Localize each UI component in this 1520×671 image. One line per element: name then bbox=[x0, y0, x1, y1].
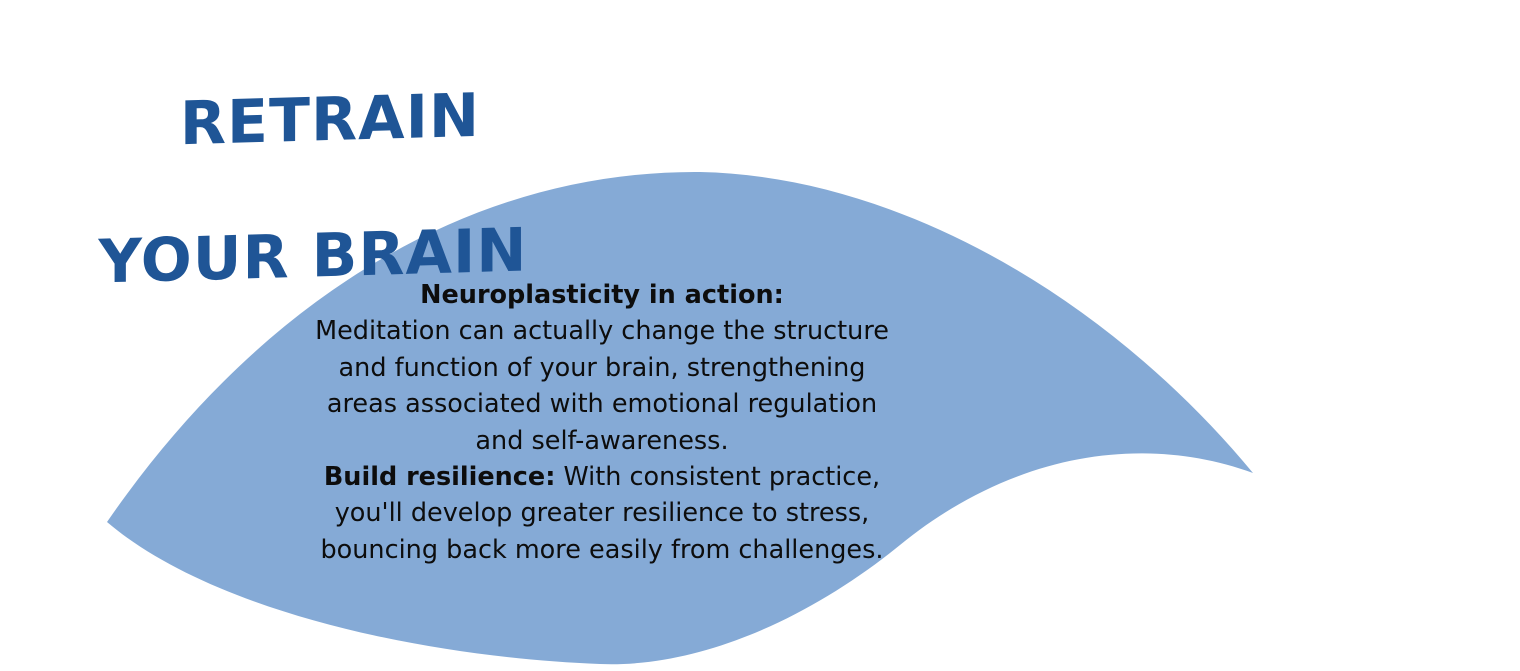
paragraph-lead-build-resilience: Build resilience: bbox=[324, 462, 556, 492]
headline-line-1: RETRAIN bbox=[120, 80, 540, 160]
poster-canvas: RETRAIN YOUR BRAIN Neuroplasticity in ac… bbox=[0, 0, 1520, 671]
paragraph-neuroplasticity: Neuroplasticity in action:Meditation can… bbox=[302, 277, 902, 459]
paragraph-build-resilience: Build resilience: With consistent practi… bbox=[302, 459, 902, 568]
paragraph-text-neuroplasticity: Meditation can actually change the struc… bbox=[315, 316, 889, 455]
body-copy: Neuroplasticity in action:Meditation can… bbox=[302, 277, 902, 568]
paragraph-lead-neuroplasticity: Neuroplasticity in action: bbox=[420, 280, 784, 310]
